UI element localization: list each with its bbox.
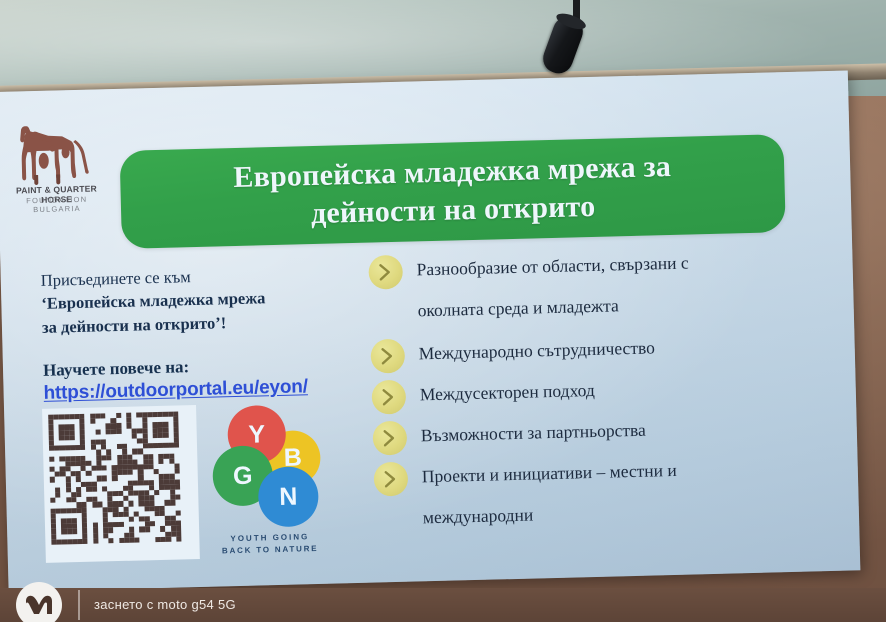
bullet-text: Междусекторен подход (419, 374, 595, 407)
bullet-text: Разнообразие от области, свързани с (416, 247, 689, 283)
watermark-divider (78, 590, 80, 620)
bullet-item: Междусекторен подход (371, 368, 822, 414)
ygn-logo: B Y G N YOUTH GOING BACK TO NATURE (209, 404, 328, 552)
motorola-batwing-glyph (22, 588, 56, 622)
intro-paragraph: Присъединете се към ‘Европейска младежка… (40, 261, 362, 339)
bullet-item: Възможности за партньорства (372, 409, 823, 455)
watermark-text: заснето с moto g54 5G (94, 597, 236, 612)
screenshot-root: PAINT & QUARTER HORSE FOUNDATION BULGARI… (0, 0, 886, 622)
camera-watermark-bar: заснето с moto g54 5G (0, 588, 886, 622)
bullet-item: Международно сътрудничество (370, 327, 821, 373)
qr-code[interactable] (42, 405, 200, 563)
bullet-list: Разнообразие от области, свързани соколн… (368, 243, 825, 545)
qr-code-matrix (48, 411, 181, 544)
chevron-right-icon (372, 421, 407, 456)
ygn-tagline-2: BACK TO NATURE (213, 544, 328, 556)
ygn-tagline-1: YOUTH GOING (212, 532, 327, 544)
bullet-text: Проекти и инициативи – местни и (421, 454, 677, 489)
bullet-item: Проекти и инициативи – местни и (373, 450, 824, 496)
bullet-text: Възможности за партньорства (420, 414, 646, 449)
slide-surface: PAINT & QUARTER HORSE FOUNDATION BULGARI… (0, 70, 860, 591)
bullet-text: Международно сътрудничество (418, 331, 655, 366)
logo-line-2: FOUNDATION BULGARIA (7, 194, 107, 215)
chevron-right-icon (373, 462, 408, 497)
chevron-right-icon (368, 255, 403, 290)
paint-quarter-horse-logo: PAINT & QUARTER HORSE FOUNDATION BULGARI… (3, 121, 109, 214)
ygn-circle-n: N (258, 466, 319, 527)
projection-screen: PAINT & QUARTER HORSE FOUNDATION BULGARI… (0, 70, 860, 591)
eyon-portal-link[interactable]: https://outdoorportal.eu/eyon/ (43, 376, 308, 405)
bullet-continuation: околната среда и младежта (417, 288, 819, 323)
learn-more-label: Научете повече на: (43, 353, 363, 381)
motorola-logo-icon (16, 582, 62, 622)
bullet-item: Разнообразие от области, свързани с (368, 243, 819, 289)
chevron-right-icon (370, 339, 405, 374)
left-column: Присъединете се към ‘Европейска младежка… (40, 261, 363, 405)
bullet-continuation: международни (423, 495, 825, 530)
slide-title-banner: Европейска младежка мрежа за дейности на… (120, 134, 786, 249)
slide-title: Европейска младежка мрежа за дейности на… (215, 147, 690, 236)
chevron-right-icon (371, 380, 406, 415)
horse-icon (3, 121, 109, 186)
